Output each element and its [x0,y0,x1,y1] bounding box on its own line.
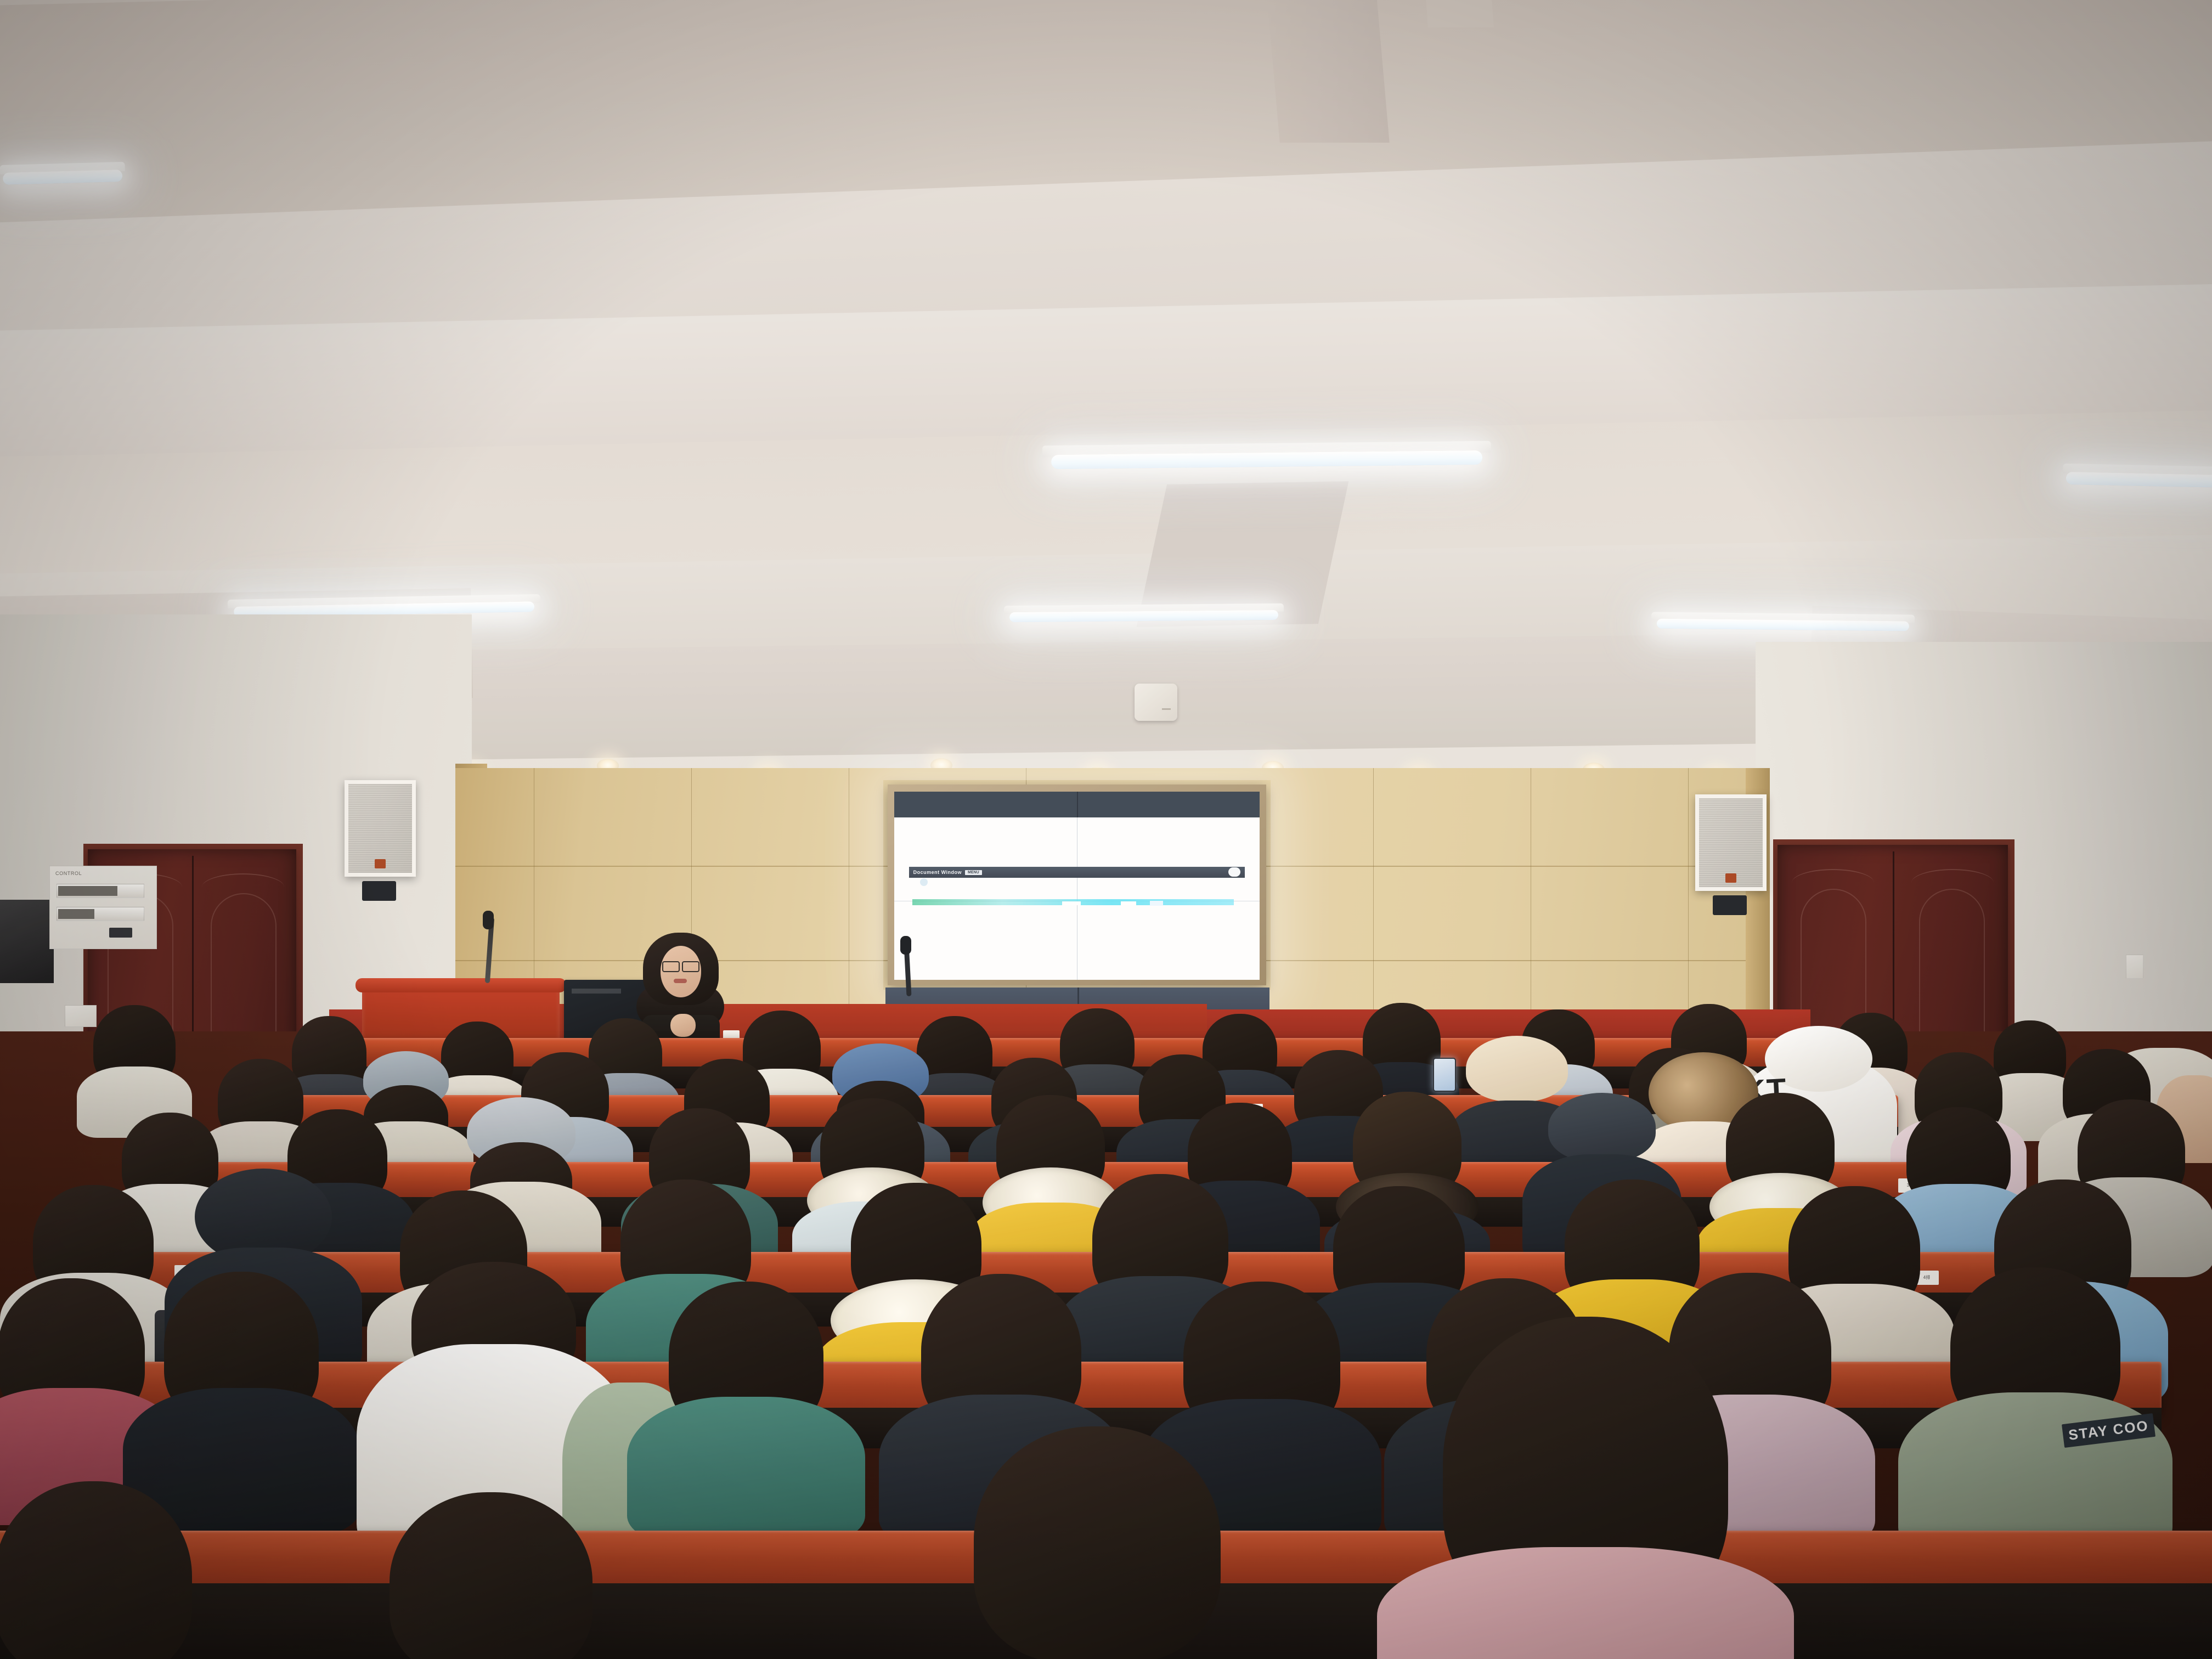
screen-toolbar-title: Document Window [913,870,962,875]
person-f2 [362,1492,620,1659]
screen-topbar [894,792,1260,817]
light-switch-right[interactable] [2126,955,2143,979]
screen-faint-mark [920,878,928,886]
projection-screen[interactable]: Document Window MENU [888,785,1266,985]
wall-speaker-right [1695,794,1767,891]
cap [1548,1093,1656,1162]
hair [0,1481,192,1659]
presenter-mouth [674,979,687,983]
podium-microphone-head [483,911,494,929]
screen-band-gap-3 [1150,901,1163,906]
screen-toolbar-knob[interactable] [1228,867,1240,877]
control-indicator [109,928,132,938]
screen-band-gap-1 [1062,901,1081,905]
person-a1 [88,1005,181,1115]
person-e9-green [1920,1267,2151,1553]
hair [390,1492,592,1659]
person-f3-center [944,1426,1251,1659]
control-slot-2[interactable] [57,907,144,921]
tube-lamp [2,170,122,185]
coat-pink [1377,1547,1794,1659]
presenter-glasses [662,961,699,970]
speaker-brand-logo [375,859,386,868]
projection-screen-content: Document Window MENU [894,792,1260,980]
hair [974,1426,1221,1659]
tube-lamp [1656,619,1909,631]
beret-hat [1466,1036,1568,1102]
tube-lamp [2066,472,2212,487]
speaker-mount-box-right [1713,895,1747,915]
screen-toolbar-chip: MENU [965,870,982,875]
wall-speaker-left [345,780,416,877]
screen-band-gap-2 [1121,901,1136,905]
tube-light-mid-center [1004,603,1284,623]
person-f1 [0,1481,219,1659]
tube-light-far-left [0,162,125,186]
speaker-brand-logo [1725,873,1736,883]
person-e4-teal [647,1282,845,1528]
tube-light-far-right [2063,464,2212,489]
wall-control-panel[interactable]: CONTROL [49,866,157,949]
ceiling-beam-vertical-2 [1425,0,1494,27]
person-f4-pink [1393,1339,1778,1659]
ceiling-beam-vertical [1266,0,1389,143]
coat-teal [627,1397,865,1542]
lecture-hall-scene: Document Window MENU [0,0,2212,1659]
smartphone[interactable] [1433,1058,1456,1092]
desk-microphone-head [900,936,911,955]
tube-lamp [1009,610,1278,622]
control-slot-1[interactable] [57,884,144,898]
screen-topbar-seam [1077,792,1078,817]
screen-toolbar[interactable]: Document Window MENU [909,867,1245,878]
presenter-hand [670,1014,696,1037]
projector-sensor-box [1135,684,1177,721]
speaker-mount-box-left [362,881,396,901]
monitor-reflection [572,989,621,994]
podium-top [356,978,566,992]
wall-monitor-left [0,900,54,983]
tube-light-mid-right [1651,612,1915,632]
wall-control-panel-label: CONTROL [55,871,82,876]
tube-light-center-top [1042,441,1491,471]
